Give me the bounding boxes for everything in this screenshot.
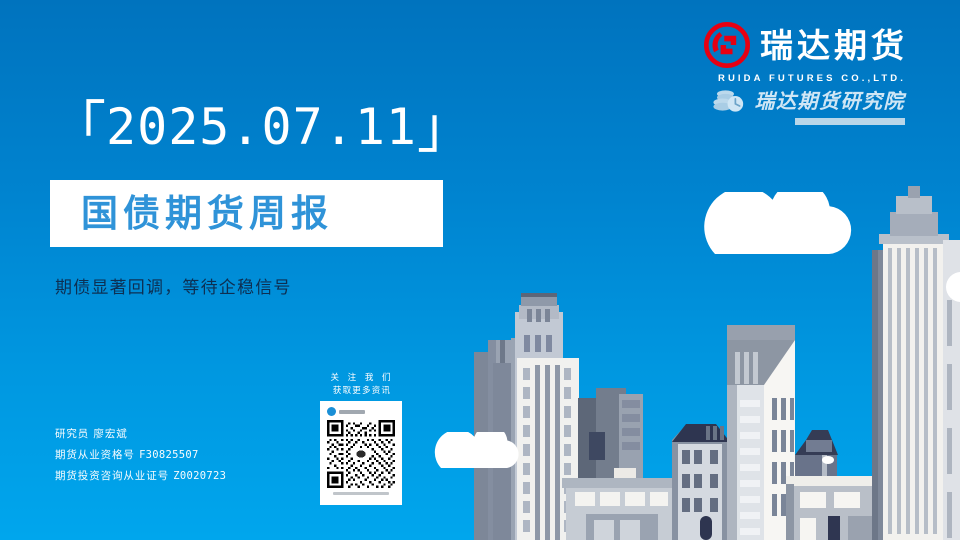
bracket-close: 」 [417,101,473,157]
ruida-swirl-logo-icon [704,22,750,68]
qr-card-header [327,407,395,416]
institute-underline-rule [795,118,905,125]
qr-card-footer-text [333,492,389,495]
report-cover-slide: 瑞达期货 RUIDA FUTURES CO.,LTD. 瑞达期货研究院 「 20… [0,0,960,540]
brand-name-en: RUIDA FUTURES CO.,LTD. [704,73,906,84]
qr-account-name-placeholder [339,410,365,414]
qualification-label: 期货从业资格号 [55,449,135,461]
analyst-credentials: 研究员 廖宏斌 期货从业资格号 F30825507 期货投资咨询从业证号 Z00… [55,424,226,487]
brand-logo-block: 瑞达期货 RUIDA FUTURES CO.,LTD. [704,22,908,84]
report-date: 2025.07.11 [106,101,417,154]
consulting-label: 期货投资咨询从业证号 [55,470,169,482]
analyst-name-line: 研究员 廖宏斌 [55,424,226,445]
brand-name-cn: 瑞达期货 [760,29,908,62]
cloud-icon [428,432,522,468]
qualification-number: F30825507 [139,449,199,461]
qr-code-icon[interactable] [327,420,395,488]
consulting-number: Z0020723 [173,470,226,482]
coins-clock-icon [712,88,746,114]
brand-row: 瑞达期货 [704,22,908,68]
follow-us-qr-block[interactable]: 关 注 我 们 获取更多资讯 [320,372,404,505]
report-title-banner: 国债期货周报 [50,180,443,247]
report-date-line: 「 2025.07.11 」 [50,101,473,157]
analyst-qualification-line: 期货从业资格号 F30825507 [55,445,226,466]
cloud-icon [944,268,960,302]
analyst-consulting-line: 期货投资咨询从业证号 Z0020723 [55,466,226,487]
page-title: 国债期货周报 [81,195,333,232]
qr-card[interactable] [320,401,402,505]
cloud-icon [691,192,853,254]
qr-caption-line1: 关 注 我 们 [320,372,404,385]
bracket-open: 「 [50,101,106,157]
report-subtitle: 期债显著回调，等待企稳信号 [55,280,292,297]
wechat-account-avatar-icon [327,407,336,416]
qr-caption-line2: 获取更多资讯 [320,385,404,398]
research-institute-name: 瑞达期货研究院 [755,91,906,111]
research-institute-logo: 瑞达期货研究院 [712,88,906,114]
